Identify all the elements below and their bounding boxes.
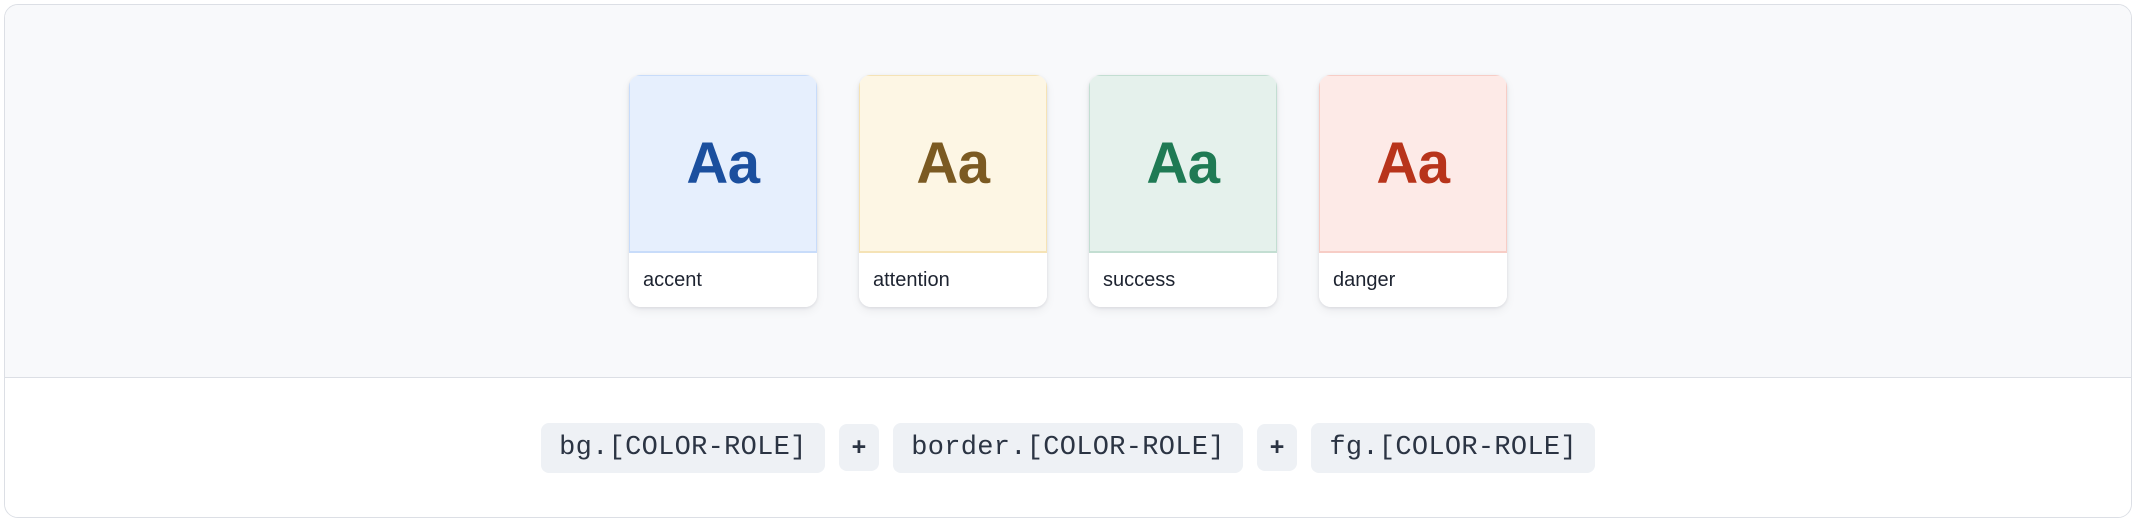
- plus-operator-2: +: [1257, 424, 1298, 470]
- color-swatch-attention: Aa: [859, 75, 1047, 253]
- color-swatch-section: Aa accent Aa attention Aa success Aa dan…: [5, 5, 2131, 378]
- sample-text-danger: Aa: [1376, 135, 1449, 193]
- color-card-label-accent: accent: [629, 253, 817, 307]
- color-card-label-danger: danger: [1319, 253, 1507, 307]
- sample-text-success: Aa: [1146, 135, 1219, 193]
- color-card-accent[interactable]: Aa accent: [629, 75, 817, 307]
- color-role-panel: Aa accent Aa attention Aa success Aa dan…: [4, 4, 2132, 518]
- color-swatch-success: Aa: [1089, 75, 1277, 253]
- color-card-label-attention: attention: [859, 253, 1047, 307]
- plus-operator-1: +: [839, 424, 880, 470]
- token-fg: fg.[COLOR-ROLE]: [1311, 423, 1595, 473]
- token-border: border.[COLOR-ROLE]: [893, 423, 1243, 473]
- color-card-attention[interactable]: Aa attention: [859, 75, 1047, 307]
- token-formula-section: bg.[COLOR-ROLE] + border.[COLOR-ROLE] + …: [5, 378, 2131, 517]
- color-card-success[interactable]: Aa success: [1089, 75, 1277, 307]
- sample-text-attention: Aa: [916, 135, 989, 193]
- color-card-danger[interactable]: Aa danger: [1319, 75, 1507, 307]
- color-swatch-accent: Aa: [629, 75, 817, 253]
- sample-text-accent: Aa: [686, 135, 759, 193]
- color-swatch-danger: Aa: [1319, 75, 1507, 253]
- color-card-label-success: success: [1089, 253, 1277, 307]
- token-bg: bg.[COLOR-ROLE]: [541, 423, 825, 473]
